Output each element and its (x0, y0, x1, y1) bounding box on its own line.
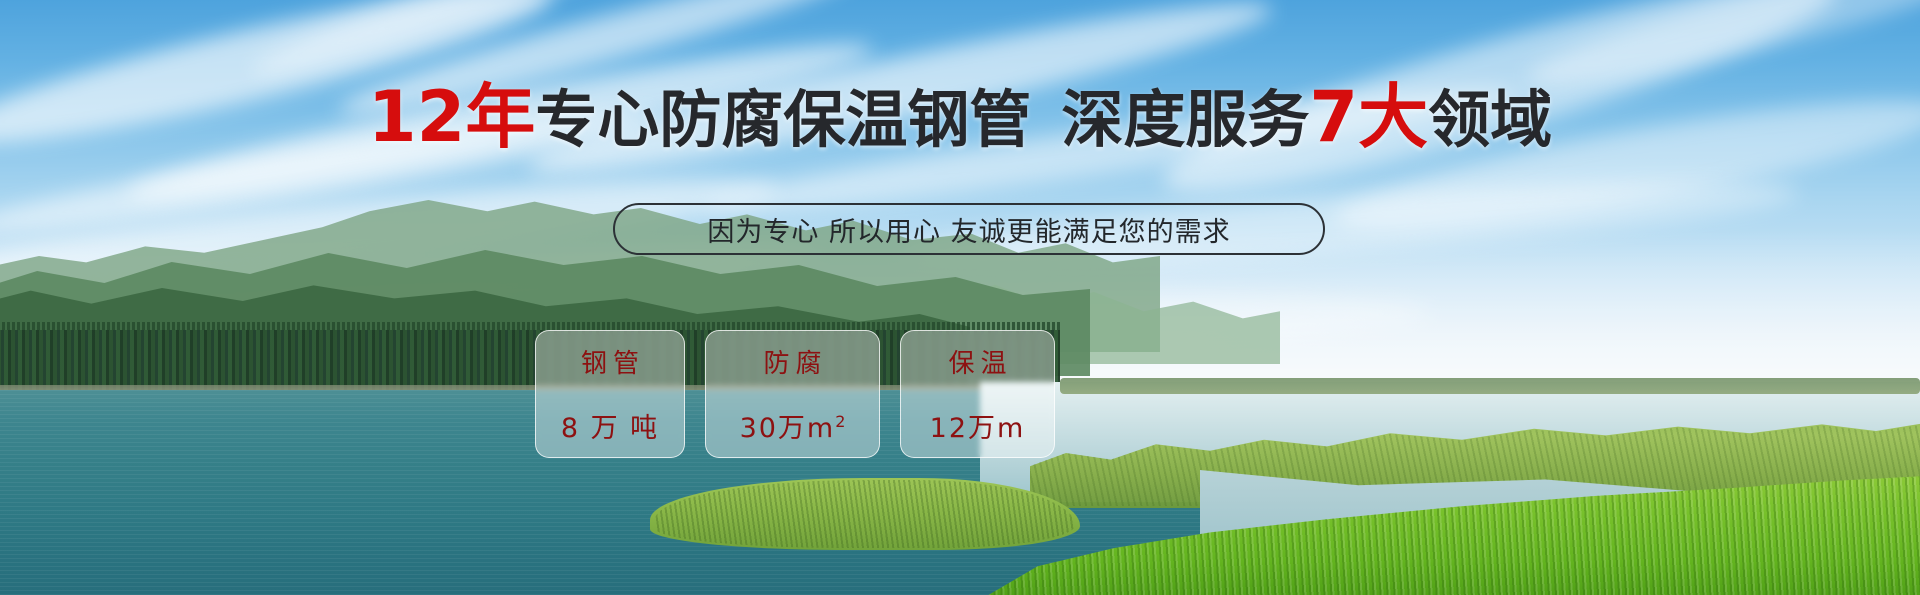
banner-headline: 12年专心防腐保温钢管深度服务7大领域 (0, 84, 1920, 153)
headline-years-number: 12 (368, 76, 465, 158)
stat-value-text: 30万m (740, 413, 836, 444)
stat-card-title: 保温 (942, 343, 1012, 380)
stat-value-superscript: 2 (835, 412, 845, 431)
stat-card-title: 钢管 (575, 343, 645, 380)
subtitle-pill: 因为专心 所以用心 友诚更能满足您的需求 (613, 203, 1325, 255)
hero-banner: 12年专心防腐保温钢管深度服务7大领域 因为专心 所以用心 友诚更能满足您的需求… (0, 0, 1920, 595)
stat-card-value: 8 万 吨 (561, 406, 659, 445)
headline-main-text: 专心防腐保温钢管 (535, 83, 1031, 156)
distant-shoreline (1060, 378, 1920, 394)
headline-years-unit: 年 (465, 76, 535, 158)
stat-card-title: 防腐 (757, 343, 827, 380)
headline-fields-text: 领域 (1428, 83, 1552, 156)
stat-value-text: 8 万 吨 (561, 413, 659, 444)
stat-cards-group: 钢管 8 万 吨 防腐 30万m2 保温 12万m (535, 330, 1055, 458)
stat-card-insulation: 保温 12万m (900, 330, 1055, 458)
headline-fields-number: 7 (1309, 76, 1358, 158)
grass-island-texture (655, 480, 1075, 548)
headline-fields-unit: 大 (1358, 76, 1428, 158)
stat-card-value: 30万m2 (740, 406, 846, 445)
subtitle-text: 因为专心 所以用心 友诚更能满足您的需求 (707, 210, 1230, 249)
stat-value-text: 12万m (930, 413, 1026, 444)
stat-card-value: 12万m (930, 406, 1026, 445)
stat-card-steel-pipe: 钢管 8 万 吨 (535, 330, 685, 458)
headline-service-text: 深度服务 (1061, 83, 1309, 156)
stat-card-anticorrosion: 防腐 30万m2 (705, 330, 880, 458)
